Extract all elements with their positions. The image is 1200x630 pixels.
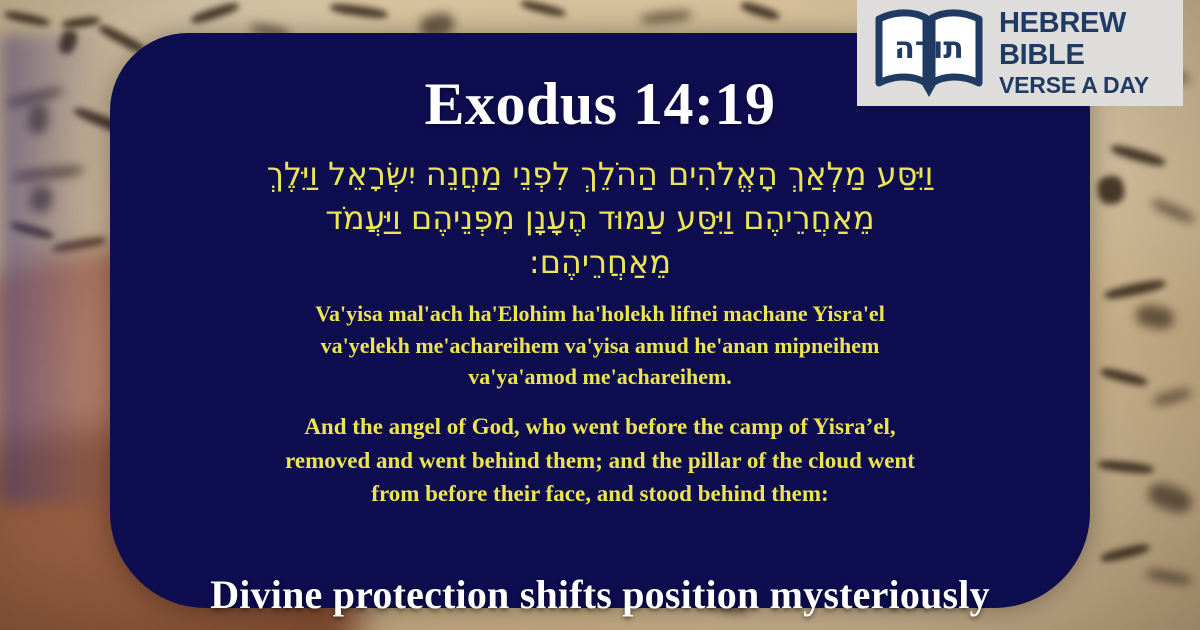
hebrew-line: וַיִּסַּע מַלְאַךְ הָאֱלֹהִים הַהֹלֵךְ ל… — [150, 152, 1050, 196]
verse-graphic: Exodus 14:19 וַיִּסַּע מַלְאַךְ הָאֱלֹהִ… — [0, 0, 1200, 630]
logo-line-hebrew: HEBREW — [999, 9, 1149, 38]
translation-line: from before their face, and stood behind… — [234, 477, 966, 510]
logo-line-bible: BIBLE — [999, 41, 1149, 70]
caption-text: Divine protection shifts position myster… — [0, 571, 1200, 618]
verse-card: Exodus 14:19 וַיִּסַּע מַלְאַךְ הָאֱלֹהִ… — [110, 33, 1090, 608]
logo-badge[interactable]: תורה HEBREW BIBLE VERSE A DAY — [857, 0, 1183, 106]
logo-wordmark: HEBREW BIBLE VERSE A DAY — [999, 9, 1149, 97]
torah-word-glyph: תורה — [894, 31, 963, 66]
transliteration-line: va'yelekh me'achareihem va'yisa amud he'… — [288, 330, 912, 361]
transliteration-line: Va'yisa mal'ach ha'Elohim ha'holekh lifn… — [288, 298, 912, 329]
transliteration-line: va'ya'amod me'achareihem. — [288, 361, 912, 392]
open-book-torah-icon: תורה — [873, 5, 985, 102]
logo-line-verse-a-day: VERSE A DAY — [999, 74, 1149, 97]
english-translation-text: And the angel of God, who went before th… — [234, 410, 966, 510]
translation-line: And the angel of God, who went before th… — [234, 410, 966, 443]
hebrew-verse-text: וַיִּסַּע מַלְאַךְ הָאֱלֹהִים הַהֹלֵךְ ל… — [150, 152, 1050, 284]
hebrew-line: מֵאַחֲרֵיהֶם: — [150, 240, 1050, 284]
transliteration-text: Va'yisa mal'ach ha'Elohim ha'holekh lifn… — [288, 298, 912, 392]
translation-line: removed and went behind them; and the pi… — [234, 444, 966, 477]
hebrew-line: מֵאַחֲרֵיהֶם וַיִּסַּע עַמּוּד הֶעָנָן מ… — [150, 196, 1050, 240]
